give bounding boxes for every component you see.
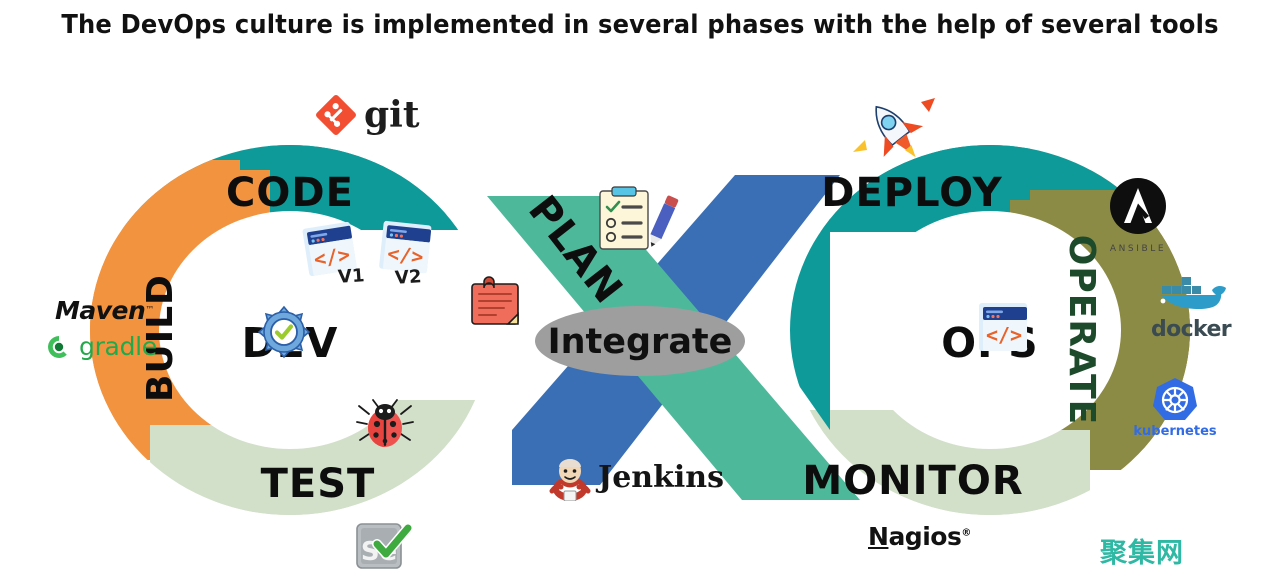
ansible-label: ANSIBLE [1106,244,1170,254]
tool-logo-kubernetes[interactable]: kubernetes [1130,376,1220,439]
nagios-registered-mark: ® [961,528,971,539]
build-gear-check[interactable] [255,303,313,366]
plan-clipboard[interactable] [596,185,682,262]
test-bug[interactable] [355,398,415,459]
clipboard-checklist-icon [596,185,682,257]
kubernetes-label: kubernetes [1130,424,1220,439]
tool-logo-selenium[interactable]: Se [353,518,415,577]
plan-sticky-note[interactable] [468,272,524,337]
maven-label: Maven [55,296,145,325]
devops-diagram-canvas: The DevOps culture is implemented in sev… [0,0,1280,580]
artifact-label-v1: V1 [337,265,365,288]
phase-label-operate: OPERATE [1061,235,1102,426]
ansible-a-icon [1108,176,1168,236]
jenkins-label: Jenkins [598,463,724,493]
nagios-label-rest: agios [888,522,961,551]
tool-logo-git[interactable]: git [315,94,419,136]
gradle-label: gradle [79,332,157,361]
tool-logo-nagios[interactable]: Nagios® [868,522,971,551]
tool-logo-maven[interactable]: Maven™ [55,296,154,325]
jenkins-butler-icon [548,455,592,501]
gear-check-icon [255,303,313,361]
artifact-label-v2: V2 [394,266,422,289]
git-diamond-icon [315,94,357,136]
ladybug-icon [355,398,415,454]
tool-logo-gradle[interactable]: gradle [46,332,157,361]
docker-label: docker [1150,317,1232,342]
git-label: git [364,97,419,133]
rocket-icon [851,96,941,168]
svg-text:</>: </> [386,241,424,269]
phase-label-test: TEST [261,461,376,507]
tool-logo-jenkins[interactable]: Jenkins [548,455,724,501]
maven-tm: ™ [145,306,154,316]
kubernetes-helm-icon [1152,376,1198,422]
code-file-icon: </> [976,300,1030,354]
gradle-logo-icon [46,334,72,360]
deploy-rocket[interactable] [851,96,941,173]
phase-label-deploy: DEPLOY [821,170,1002,216]
ops-code-file[interactable]: </> [976,300,1030,359]
nagios-label-n: N [868,522,888,551]
phase-label-code: CODE [226,170,354,216]
sticky-note-icon [468,272,524,332]
docker-whale-icon [1150,270,1232,314]
svg-text:</>: </> [986,323,1022,347]
tool-logo-ansible[interactable]: ANSIBLE [1106,176,1170,254]
phase-label-monitor: MONITOR [802,458,1023,504]
selenium-se-icon: Se [353,518,415,572]
tool-logo-docker[interactable]: docker [1150,270,1232,342]
center-label-integrate: Integrate [548,322,733,362]
watermark: 聚集网 [1100,531,1184,570]
